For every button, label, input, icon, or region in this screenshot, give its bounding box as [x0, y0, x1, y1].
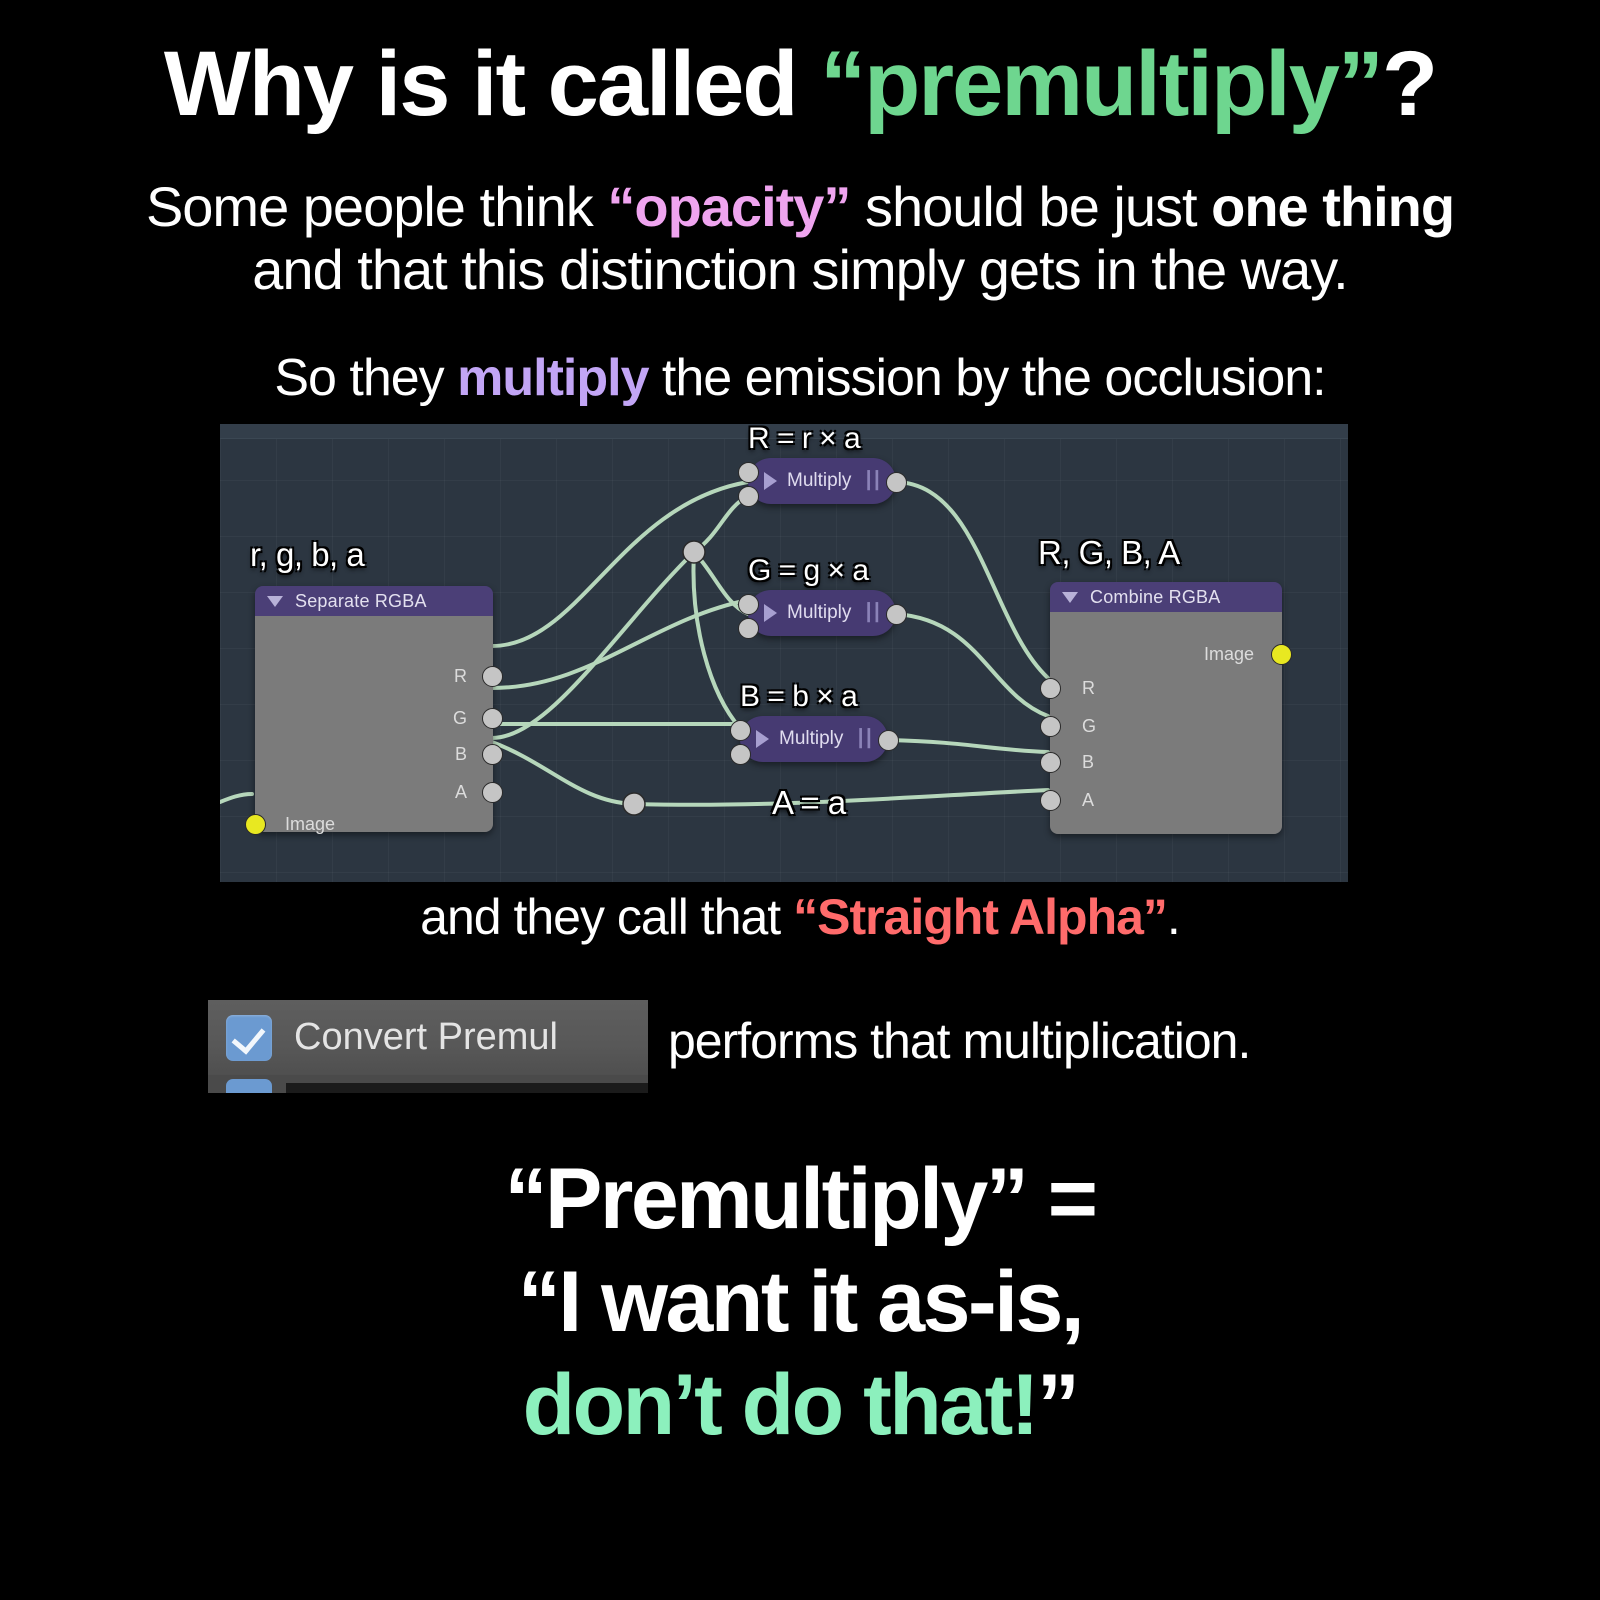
subparagraph-line-1-a: Some people think [146, 175, 607, 238]
separate-output-socket-r[interactable] [482, 666, 503, 687]
separate-output-label-a: A [455, 782, 467, 803]
multiply-node-b[interactable]: Multiply ┃┃ [740, 716, 888, 762]
straight-alpha-line: and they call that “Straight Alpha”. [0, 888, 1600, 946]
straight-alpha-line-b: . [1167, 889, 1180, 945]
multiply-node-r[interactable]: Multiply ┃┃ [748, 458, 896, 504]
multiply-r-input-socket-2[interactable] [738, 486, 759, 507]
closing-dont-do-that: don’t do that! [523, 1357, 1037, 1453]
combine-input-socket-b[interactable] [1040, 752, 1061, 773]
so-line-multiply-highlight: multiply [457, 349, 648, 407]
multiply-node-g[interactable]: Multiply ┃┃ [748, 590, 896, 636]
pause-bars-icon[interactable]: ┃┃ [864, 471, 880, 491]
combine-output-label-image: Image [1204, 644, 1254, 665]
closing-line-1: “Premultiply” = [0, 1148, 1600, 1251]
wire-image-in [220, 794, 252, 802]
multiply-node-r-label: Multiply [787, 470, 851, 492]
play-triangle-icon [764, 604, 777, 622]
combine-input-label-a: A [1082, 790, 1094, 811]
checkmark-icon[interactable] [226, 1015, 272, 1061]
pause-bars-icon[interactable]: ┃┃ [856, 729, 872, 749]
separate-output-label-g: G [453, 708, 467, 729]
convert-premul-checkbox-row[interactable]: Convert Premul [208, 1000, 648, 1075]
formula-label-a: A = a [772, 784, 846, 822]
combine-input-socket-a[interactable] [1040, 790, 1061, 811]
pause-bars-icon[interactable]: ┃┃ [864, 603, 880, 623]
separate-rgba-node-title: Separate RGBA [295, 591, 427, 612]
closing-line-2: “I want it as-is, [0, 1251, 1600, 1354]
wire-hub-to-mul3b [693, 552, 740, 728]
multiply-node-b-label: Multiply [779, 728, 843, 750]
combine-rgba-node-header[interactable]: Combine RGBA [1050, 582, 1282, 612]
formula-label-r: R = r × a [748, 424, 860, 456]
reroute-node-upper [683, 541, 705, 563]
convert-premul-label: Convert Premul [294, 1016, 558, 1059]
collapse-triangle-icon[interactable] [267, 596, 283, 607]
combine-rgba-node[interactable]: Combine RGBA Image R G B A [1050, 582, 1282, 834]
multiply-b-input-socket-2[interactable] [730, 744, 751, 765]
separate-output-socket-b[interactable] [482, 744, 503, 765]
so-line-b: the emission by the occlusion: [648, 349, 1325, 407]
closing-premultiply-quote: “Premultiply” [505, 1151, 1027, 1247]
reroute-node-lower [623, 793, 645, 815]
subparagraph: Some people think “opacity” should be ju… [0, 176, 1600, 301]
combine-input-label-r: R [1082, 678, 1095, 699]
subparagraph-line-1-b: should be just [850, 175, 1211, 238]
play-triangle-icon [764, 472, 777, 490]
straight-alpha-line-a: and they call that [420, 889, 793, 945]
so-line-a: So they [274, 349, 457, 407]
multiply-g-input-socket-2[interactable] [738, 618, 759, 639]
closing-statement: “Premultiply” = “I want it as-is, don’t … [0, 1148, 1600, 1458]
multiply-b-input-socket-1[interactable] [730, 720, 751, 741]
combine-input-socket-r[interactable] [1040, 678, 1061, 699]
separate-input-label-image: Image [285, 814, 335, 835]
wire-r-to-mul1 [492, 482, 748, 646]
convert-premul-screenshot: Convert Premul [208, 1000, 648, 1093]
formula-label-g: G = g × a [748, 554, 869, 588]
page-title-part1: Why is it called [164, 33, 820, 135]
separate-output-socket-a[interactable] [482, 782, 503, 803]
node-editor-screenshot: r, g, b, a Separate RGBA R G B A Image R… [220, 424, 1348, 882]
separate-node-caption: r, g, b, a [250, 536, 364, 574]
page-title: Why is it called “premultiply”? [0, 36, 1600, 133]
separate-output-label-r: R [454, 666, 467, 687]
combine-input-socket-g[interactable] [1040, 716, 1061, 737]
subparagraph-opacity-highlight: “opacity” [607, 175, 850, 238]
separate-rgba-node-body: R G B A Image [255, 616, 493, 832]
wire-mul2-to-combine-g [896, 614, 1048, 716]
multiply-r-input-socket-1[interactable] [738, 462, 759, 483]
page-title-highlight: “premultiply” [820, 33, 1382, 135]
closing-closing-quote: ” [1037, 1357, 1078, 1453]
formula-label-b: B = b × a [740, 680, 857, 714]
combine-input-label-b: B [1082, 752, 1094, 773]
separate-output-socket-g[interactable] [482, 708, 503, 729]
separate-input-socket-image[interactable] [245, 814, 266, 835]
combine-rgba-node-title: Combine RGBA [1090, 587, 1220, 608]
multiply-r-output-socket[interactable] [886, 472, 907, 493]
straight-alpha-highlight: “Straight Alpha” [793, 889, 1167, 945]
convert-premul-partial-row-below [208, 1075, 648, 1093]
separate-rgba-node-header[interactable]: Separate RGBA [255, 586, 493, 616]
play-triangle-icon [756, 730, 769, 748]
wire-a-to-reroute2 [492, 742, 634, 804]
combine-output-socket-image[interactable] [1271, 644, 1292, 665]
combine-input-label-g: G [1082, 716, 1096, 737]
collapse-triangle-icon[interactable] [1062, 592, 1078, 603]
separate-rgba-node[interactable]: Separate RGBA R G B A Image [255, 586, 493, 832]
closing-line-3: don’t do that!” [0, 1354, 1600, 1457]
separate-output-label-b: B [455, 744, 467, 765]
subparagraph-line-1: Some people think “opacity” should be ju… [0, 176, 1600, 239]
subparagraph-line-2: and that this distinction simply gets in… [0, 239, 1600, 302]
wire-mul3-to-combine-b [888, 740, 1048, 752]
multiply-g-input-socket-1[interactable] [738, 594, 759, 615]
subparagraph-one-thing: one thing [1211, 175, 1454, 238]
multiply-g-output-socket[interactable] [886, 604, 907, 625]
convert-premul-caption: performs that multiplication. [668, 1012, 1250, 1070]
multiply-b-output-socket[interactable] [878, 730, 899, 751]
page-title-part2: ? [1382, 33, 1436, 135]
combine-node-caption: R, G, B, A [1038, 534, 1180, 572]
convert-premul-row: Convert Premul performs that multiplicat… [0, 998, 1600, 1098]
multiply-node-g-label: Multiply [787, 602, 851, 624]
closing-equals: = [1026, 1151, 1095, 1247]
wire-a-to-hub [492, 552, 694, 738]
combine-rgba-node-body: Image R G B A [1050, 612, 1282, 834]
so-they-multiply-line: So they multiply the emission by the occ… [0, 348, 1600, 408]
